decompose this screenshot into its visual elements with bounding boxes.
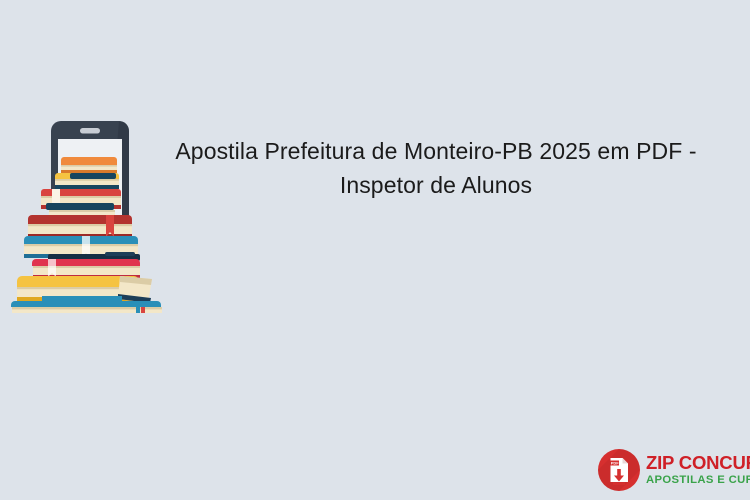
- pdf-download-icon: PDF: [598, 449, 640, 491]
- logo-secondary-text: APOSTILAS E CURSOS: [646, 475, 750, 486]
- book-darkred-6: [28, 215, 132, 238]
- logo-primary-text: ZIP CONCURSOS: [646, 454, 750, 473]
- title-block: Apostila Prefeitura de Monteiro-PB 2025 …: [166, 134, 706, 202]
- books-illustration-svg: [8, 118, 173, 313]
- book-crimson-9: [32, 259, 140, 278]
- brand-logo[interactable]: PDF ZIP CONCURSOS APOSTILAS E CURSOS: [598, 448, 744, 492]
- book-orange-top: [61, 157, 117, 173]
- promo-banner: Apostila Prefeitura de Monteiro-PB 2025 …: [0, 0, 750, 500]
- books-illustration: [8, 118, 173, 313]
- logo-wordmark: ZIP CONCURSOS APOSTILAS E CURSOS: [646, 454, 750, 487]
- book-navy-5: [46, 203, 115, 217]
- page-title: Apostila Prefeitura de Monteiro-PB 2025 …: [166, 134, 706, 202]
- svg-text:PDF: PDF: [611, 461, 619, 466]
